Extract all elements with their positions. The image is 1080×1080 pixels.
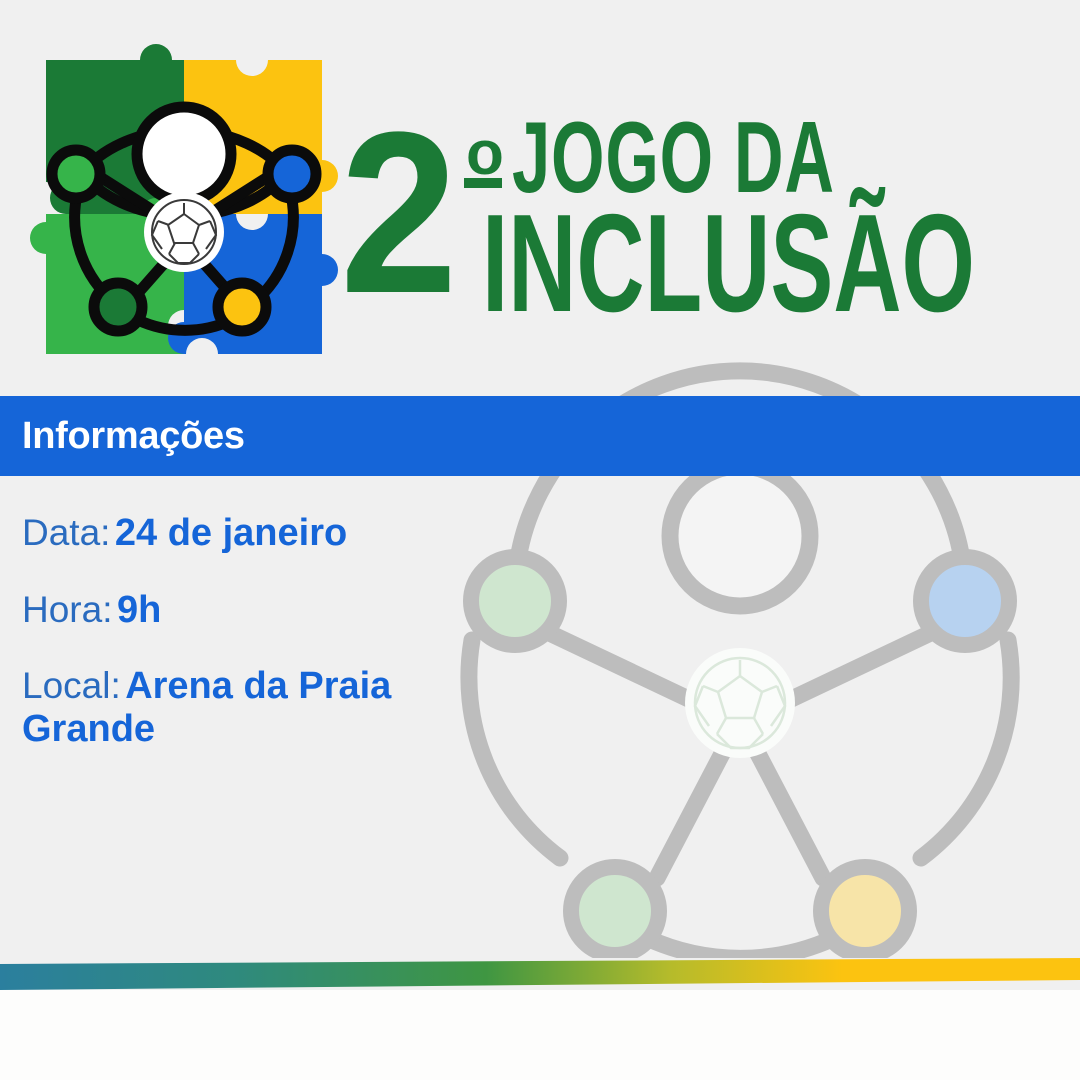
eye-pupil-circle (137, 107, 231, 201)
info-value-hora: 9h (117, 589, 161, 631)
puzzle-network-logo (28, 42, 340, 372)
footer-bar (0, 990, 1080, 1080)
banner-title: Informações (0, 415, 245, 458)
info-row-hora: Hora: 9h (22, 589, 542, 632)
info-value-data: 24 de janeiro (115, 512, 347, 554)
poster-header: 2 o JOGO DA INCLUSÃO (0, 0, 1080, 396)
node-blue (268, 150, 316, 198)
informacoes-banner: Informações (0, 396, 1080, 476)
svg-text:2: 2 (340, 96, 458, 336)
soccer-ball-icon (144, 192, 224, 272)
info-label-local: Local: (22, 665, 121, 706)
node-yellow (218, 283, 266, 331)
node-green-dark (94, 283, 142, 331)
poster-root: 2 o JOGO DA INCLUSÃO Informações Data: 2… (0, 0, 1080, 1080)
info-row-local: Local: Arena da Praia Grande (22, 665, 462, 750)
node-green-light (52, 150, 100, 198)
svg-text:o: o (466, 119, 504, 188)
svg-text:INCLUSÃO: INCLUSÃO (482, 186, 975, 336)
soccer-ball-icon (685, 648, 795, 758)
event-info-list: Data: 24 de janeiro Hora: 9h Local: Aren… (22, 512, 542, 750)
info-row-data: Data: 24 de janeiro (22, 512, 542, 555)
event-title: 2 o JOGO DA INCLUSÃO (340, 96, 1060, 336)
info-label-data: Data: (22, 512, 110, 553)
info-label-hora: Hora: (22, 589, 112, 630)
